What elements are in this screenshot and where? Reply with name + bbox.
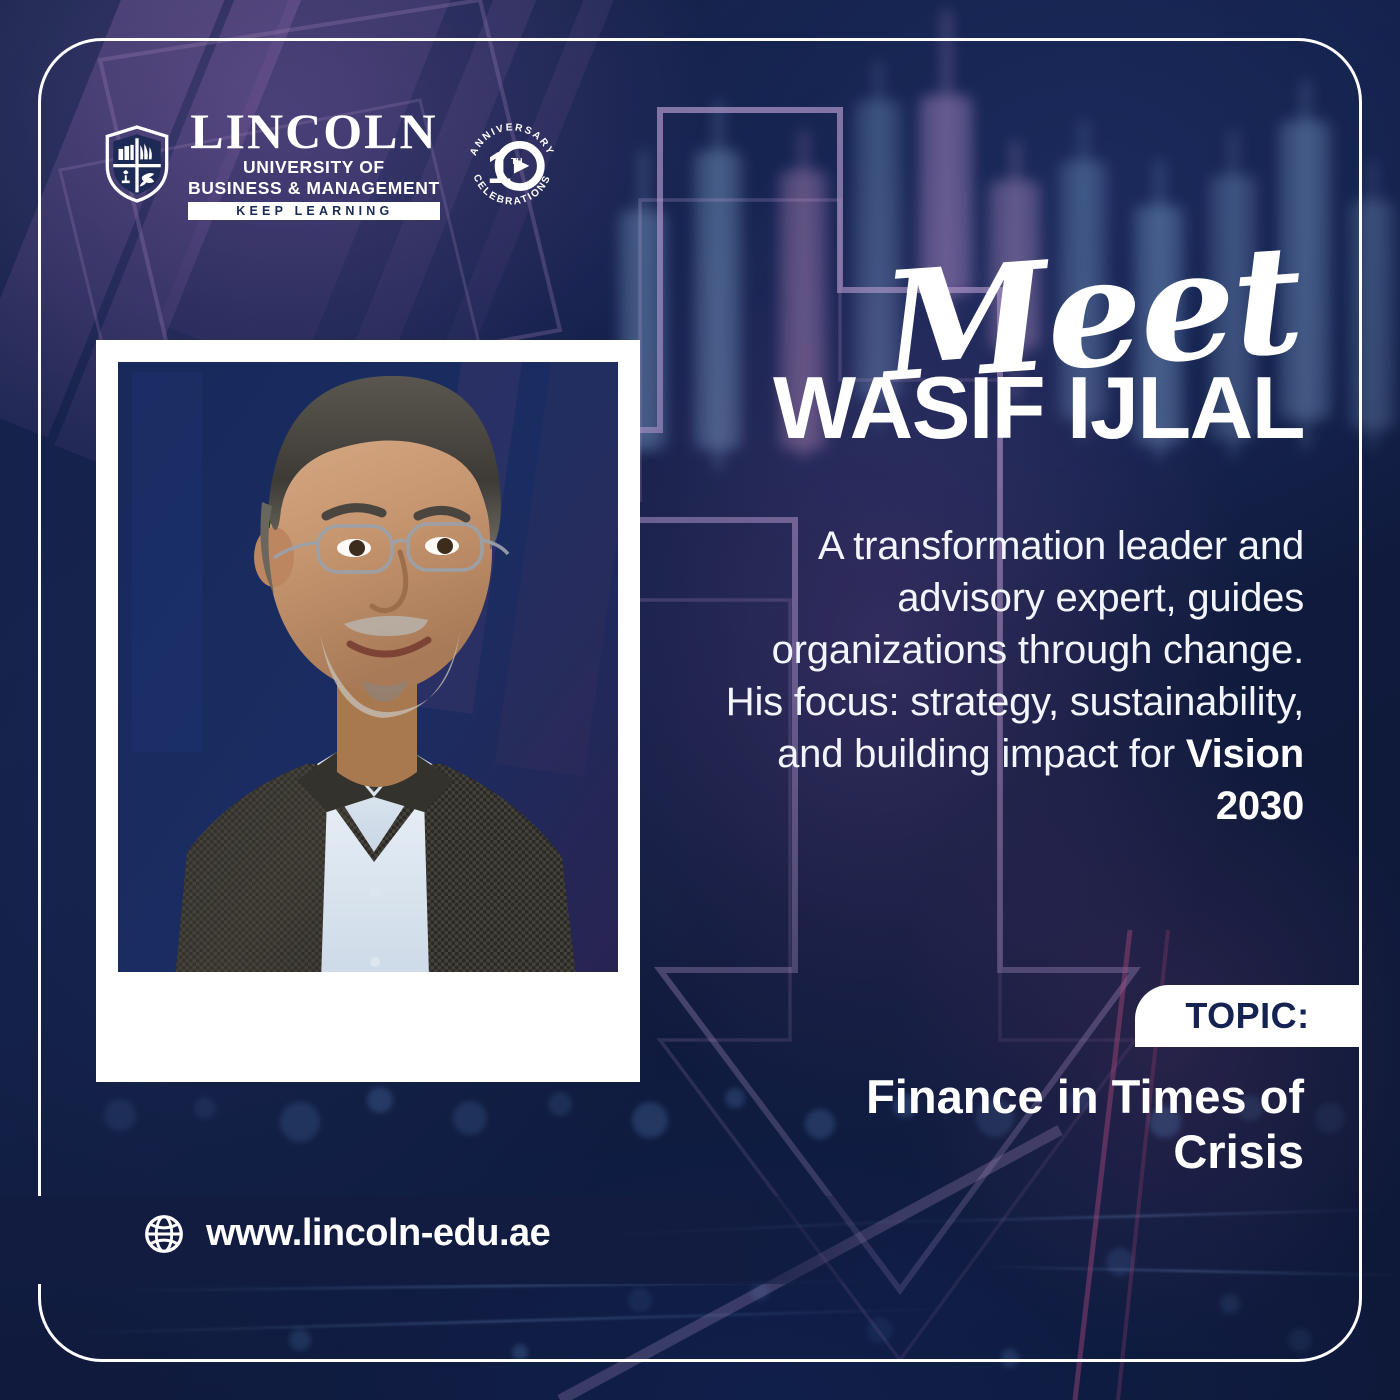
svg-text:TH: TH (511, 156, 522, 166)
logo-name: LINCOLN (190, 108, 437, 155)
logo-tagline: KEEP LEARNING (188, 202, 440, 220)
speaker-name: WASIF IJLAL (773, 364, 1304, 452)
topic-label: TOPIC: (1185, 995, 1309, 1037)
poster-canvas: LINCOLN UNIVERSITY OF BUSINESS & MANAGEM… (0, 0, 1400, 1400)
topic-title: Finance in Times of Crisis (744, 1070, 1304, 1180)
speaker-bio-highlight: Vision 2030 (1186, 732, 1304, 828)
globe-icon (144, 1214, 184, 1254)
logo-line2: BUSINESS & MANAGEMENT (188, 178, 440, 199)
shield-book-torch-dove-icon (104, 125, 170, 203)
topic-label-tab: TOPIC: (1135, 985, 1360, 1047)
brand-logo: LINCOLN UNIVERSITY OF BUSINESS & MANAGEM… (104, 108, 560, 220)
speaker-photo-frame (96, 340, 640, 1082)
website-url: www.lincoln-edu.ae (206, 1212, 550, 1255)
speaker-portrait (118, 362, 618, 972)
footer-website[interactable]: www.lincoln-edu.ae (144, 1212, 550, 1255)
anniversary-badge: ANNIVERSARY CELEBRATIONS 1 TH 10 ANNIVER… (464, 116, 560, 212)
logo-line1: UNIVERSITY OF (188, 157, 440, 178)
svg-text:ANNIVERSARY: ANNIVERSARY (468, 122, 556, 157)
speaker-bio: A transformation leader and advisory exp… (724, 520, 1304, 832)
